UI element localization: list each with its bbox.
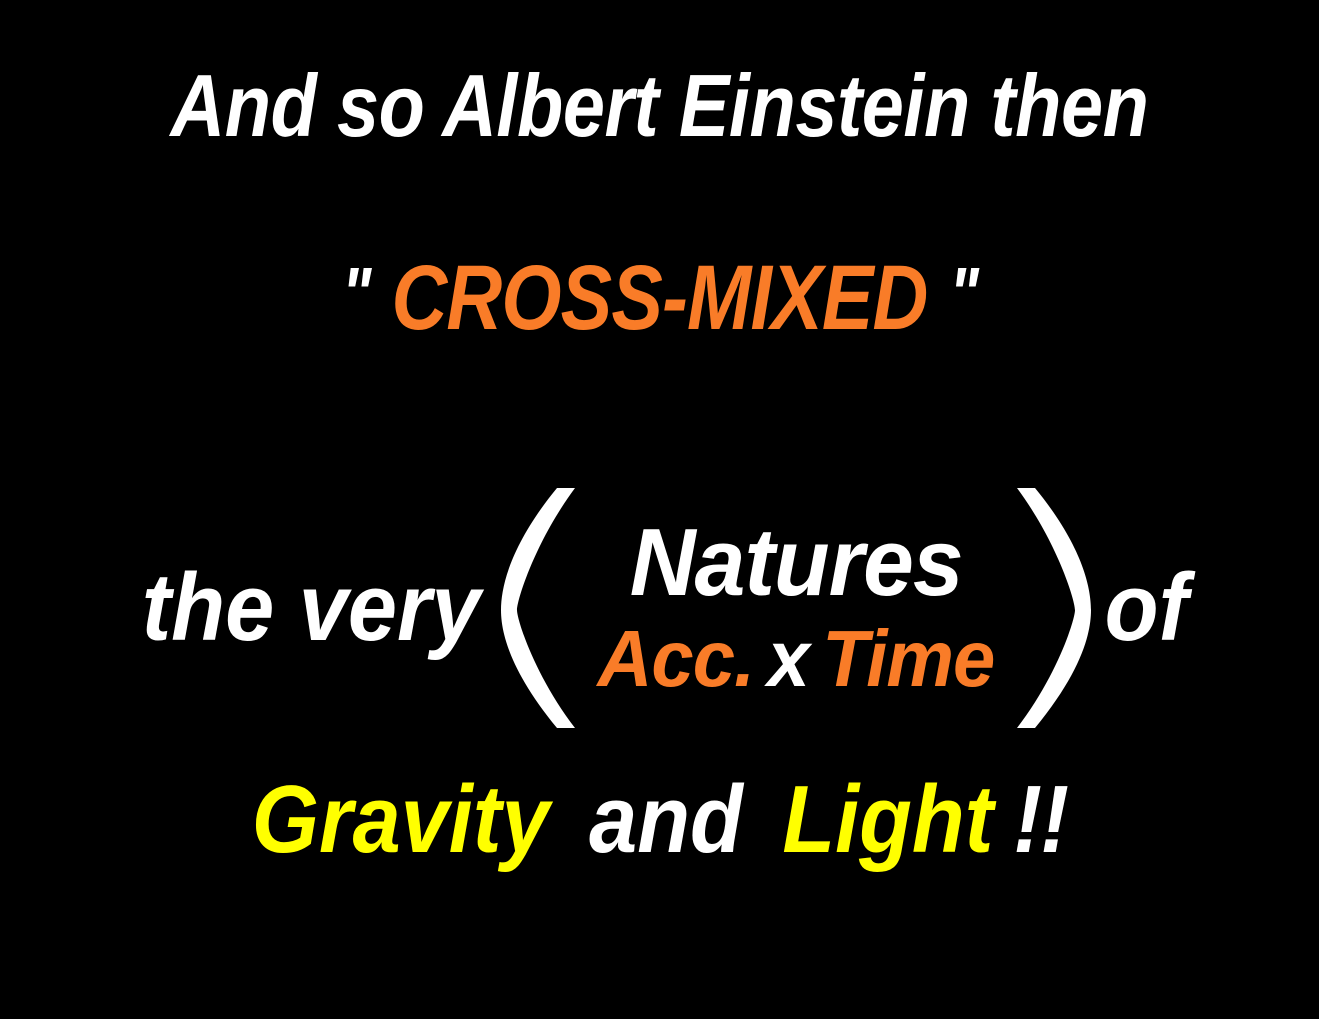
fraction-stack: Natures Acc.xTime: [581, 514, 1011, 702]
cross-mixed-term: CROSS-MIXED: [391, 247, 927, 349]
finale-line: GravityandLight!!: [66, 772, 1253, 868]
fraction-denominator: Acc.xTime: [598, 616, 995, 702]
open-quote-mark: ": [342, 252, 370, 335]
open-paren-icon: [501, 484, 587, 732]
exclamation-marks: !!: [1013, 766, 1067, 873]
trail-phrase-text: of: [1105, 560, 1188, 656]
formula-row: the very Natures Acc.xTime of: [0, 478, 1319, 738]
fraction-numerator: Natures: [630, 514, 963, 612]
denominator-right-term: Time: [823, 614, 995, 703]
multiplication-operator: x: [768, 614, 809, 703]
gravity-word: Gravity: [252, 766, 550, 873]
quoted-term-line: "CROSS-MIXED": [106, 252, 1214, 344]
close-paren-icon: [1005, 484, 1091, 732]
lead-phrase-text: the very: [142, 560, 481, 656]
conjunction-word: and: [589, 766, 743, 873]
headline-text: And so Albert Einstein then: [92, 62, 1226, 150]
slide-canvas: And so Albert Einstein then "CROSS-MIXED…: [0, 0, 1319, 1019]
denominator-left-term: Acc.: [598, 614, 755, 703]
light-word: Light: [782, 766, 993, 873]
close-quote-mark: ": [949, 252, 977, 335]
